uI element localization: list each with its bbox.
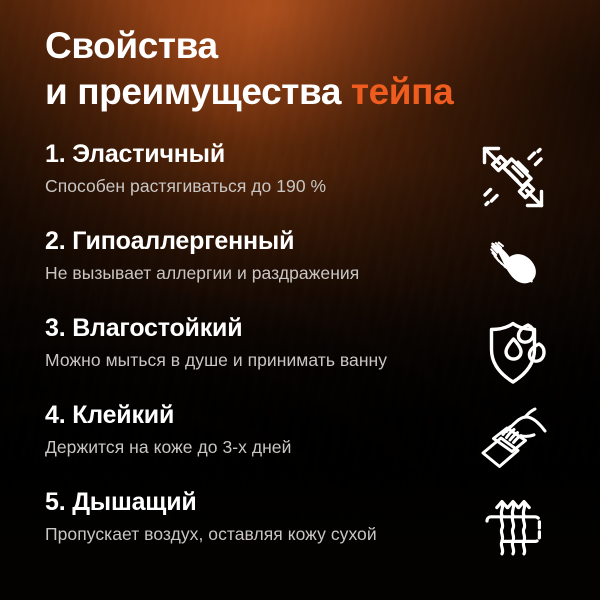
feature-title: 3. Влагостойкий (45, 313, 445, 343)
feature-text-block: 3. Влагостойкий Можно мыться в душе и пр… (45, 313, 445, 371)
feature-title: 5. Дышащий (45, 487, 445, 517)
feature-text-block: 4. Клейкий Держится на коже до 3-х дней (45, 400, 445, 458)
page-title: Свойства и преимущества тейпа (45, 23, 515, 115)
feather-icon (472, 224, 554, 304)
page-title-accent-word: тейпа (351, 71, 453, 112)
shield-water-drops-icon (472, 311, 554, 391)
feature-subtitle: Можно мыться в душе и принимать ванну (45, 349, 445, 371)
page-title-line-2-plain: и преимущества (45, 71, 351, 112)
page-title-line-2: и преимущества тейпа (45, 69, 515, 115)
page-title-line-1: Свойства (45, 23, 515, 69)
feature-subtitle: Пропускает воздух, оставляя кожу сухой (45, 523, 445, 545)
feature-text-block: 2. Гипоаллергенный Не вызывает аллергии … (45, 226, 445, 284)
feature-subtitle: Не вызывает аллергии и раздражения (45, 262, 445, 284)
poster-content: Свойства и преимущества тейпа 1. Эластич… (0, 0, 600, 600)
hand-applying-tape-icon (472, 398, 554, 478)
promo-poster: Свойства и преимущества тейпа 1. Эластич… (0, 0, 600, 600)
list-item: 4. Клейкий Держится на коже до 3-х дней (0, 400, 600, 487)
feature-text-block: 5. Дышащий Пропускает воздух, оставляя к… (45, 487, 445, 545)
feature-text-block: 1. Эластичный Способен растягиваться до … (45, 139, 445, 197)
list-item: 5. Дышащий Пропускает воздух, оставляя к… (0, 487, 600, 574)
stretch-arrows-icon (472, 137, 554, 217)
feature-list: 1. Эластичный Способен растягиваться до … (0, 139, 600, 574)
feature-title: 4. Клейкий (45, 400, 445, 430)
feature-subtitle: Держится на коже до 3-х дней (45, 436, 445, 458)
list-item: 1. Эластичный Способен растягиваться до … (0, 139, 600, 226)
breathable-airflow-icon (472, 485, 554, 565)
feature-subtitle: Способен растягиваться до 190 % (45, 175, 445, 197)
list-item: 2. Гипоаллергенный Не вызывает аллергии … (0, 226, 600, 313)
feature-title: 1. Эластичный (45, 139, 445, 169)
list-item: 3. Влагостойкий Можно мыться в душе и пр… (0, 313, 600, 400)
feature-title: 2. Гипоаллергенный (45, 226, 445, 256)
